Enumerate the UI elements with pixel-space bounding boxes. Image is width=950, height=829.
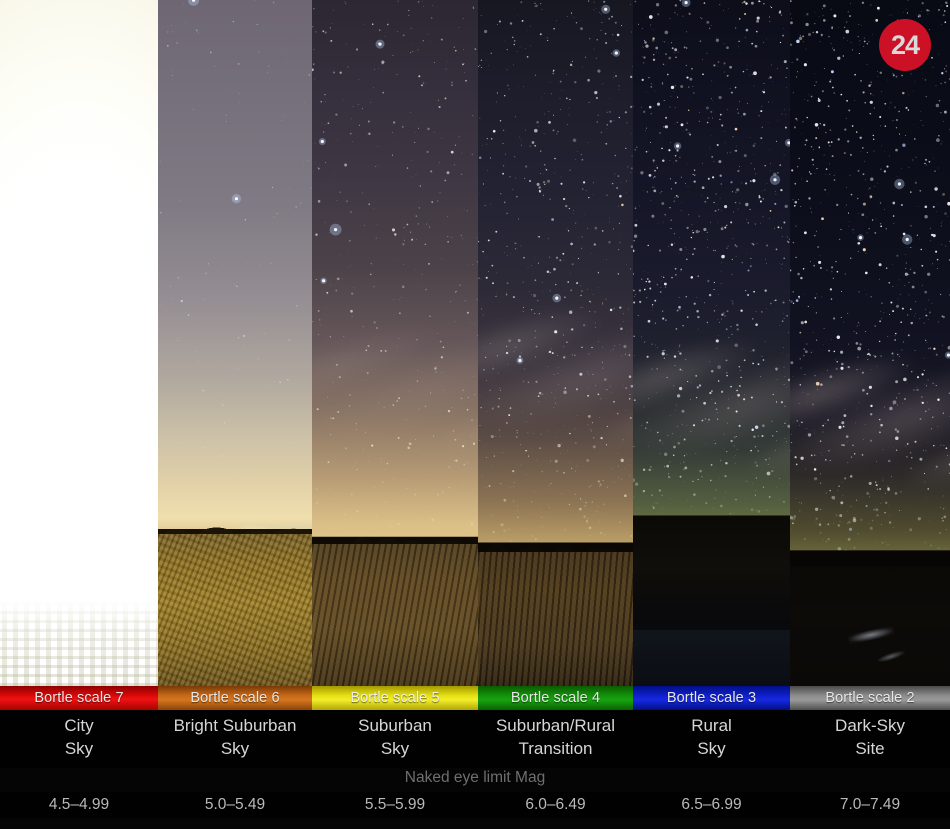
foreground-field (158, 534, 312, 686)
sky-panel-bortle-5 (312, 0, 478, 686)
band-bortle-5: Bortle scale 5 (312, 686, 478, 710)
sky-panel-bortle-6 (158, 0, 312, 686)
infographic-root: 24 Bortle scale 7 Bortle scale 6 Bortle … (0, 0, 950, 829)
foreground-grid-texture (0, 600, 158, 686)
tree-line-silhouette (478, 522, 633, 556)
band-label: Bortle scale 3 (667, 690, 756, 706)
sky-type-bortle-7: City Sky (0, 710, 158, 768)
sky-type-line1: Suburban (358, 714, 432, 737)
band-label: Bortle scale 6 (190, 690, 279, 706)
sky-type-line1: Dark-Sky (835, 714, 905, 737)
sky-panel-bortle-2 (790, 0, 950, 686)
magnitude-bortle-6: 5.0–5.49 (158, 792, 312, 818)
sky-panel-bortle-4 (478, 0, 633, 686)
naked-eye-magnitude-row: 4.5–4.99 5.0–5.49 5.5–5.99 6.0–6.49 6.5–… (0, 792, 950, 818)
band-bortle-2: Bortle scale 2 (790, 686, 950, 710)
bortle-scale-band-row: Bortle scale 7 Bortle scale 6 Bortle sca… (0, 686, 950, 710)
magnitude-bortle-7: 4.5–4.99 (0, 792, 158, 818)
water-reflection (633, 630, 790, 686)
sky-type-line1: Rural (691, 714, 732, 737)
sky-photo-strip (0, 0, 950, 686)
magnitude-bortle-3: 6.5–6.99 (633, 792, 790, 818)
band-bortle-4: Bortle scale 4 (478, 686, 633, 710)
sky-panel-bortle-3 (633, 0, 790, 686)
naked-eye-limit-title: Naked eye limit Mag (0, 769, 950, 787)
sky-type-line2: Sky (221, 737, 249, 760)
sky-type-bortle-3: Rural Sky (633, 710, 790, 768)
band-label: Bortle scale 2 (825, 690, 914, 706)
sky-type-bortle-2: Dark-Sky Site (790, 710, 950, 768)
foreground-field (312, 544, 478, 686)
sky-type-line2: Transition (518, 737, 592, 760)
band-label: Bortle scale 7 (34, 690, 123, 706)
foreground-field (478, 552, 633, 686)
magnitude-bortle-4: 6.0–6.49 (478, 792, 633, 818)
band-bortle-6: Bortle scale 6 (158, 686, 312, 710)
band-label: Bortle scale 5 (350, 690, 439, 706)
magnitude-bortle-5: 5.5–5.99 (312, 792, 478, 818)
sky-type-line2: Sky (697, 737, 725, 760)
sky-type-line2: Sky (65, 737, 93, 760)
sky-type-line1: Bright Suburban (174, 714, 297, 737)
sky-type-bortle-6: Bright Suburban Sky (158, 710, 312, 768)
sky-panel-bortle-7 (0, 0, 158, 686)
sky-type-line2: Site (855, 737, 884, 760)
sky-type-bortle-4: Suburban/Rural Transition (478, 710, 633, 768)
band-bortle-7: Bortle scale 7 (0, 686, 158, 710)
logo-text: 24 (891, 30, 919, 61)
sky-type-label-row: City Sky Bright Suburban Sky Suburban Sk… (0, 710, 950, 768)
city-skyglow-washout (0, 0, 158, 686)
sky-type-line1: Suburban/Rural (496, 714, 615, 737)
foreground-terrain (790, 566, 950, 686)
sky-type-line2: Sky (381, 737, 409, 760)
sky-type-bortle-5: Suburban Sky (312, 710, 478, 768)
band-label: Bortle scale 4 (511, 690, 600, 706)
channel-24-logo: 24 (879, 19, 931, 71)
magnitude-bortle-2: 7.0–7.49 (790, 792, 950, 818)
sky-type-line1: City (64, 714, 93, 737)
band-bortle-3: Bortle scale 3 (633, 686, 790, 710)
